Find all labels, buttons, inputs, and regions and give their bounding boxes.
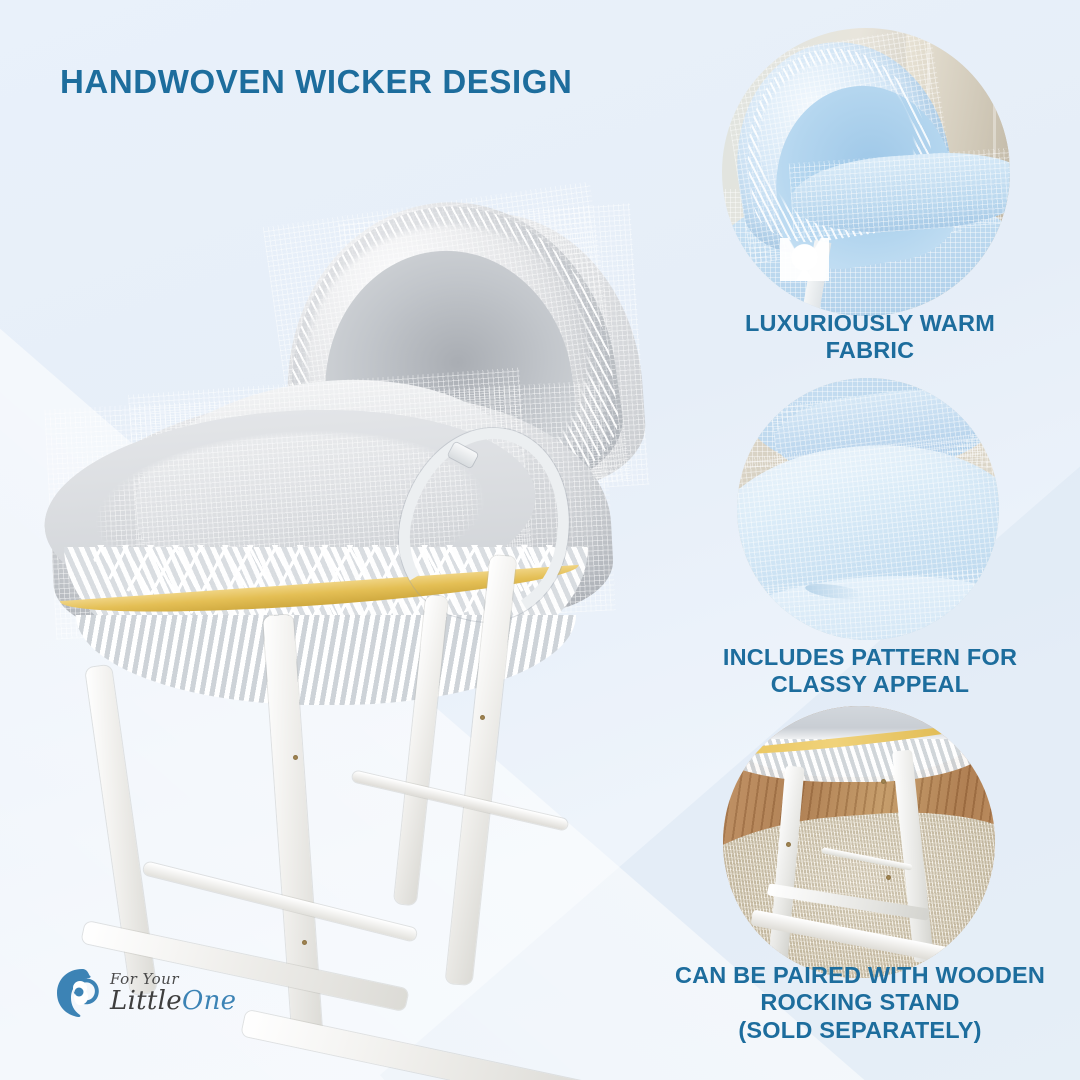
caption-line: CLASSY APPEAL <box>650 671 1080 698</box>
white-ribbon-bow <box>780 238 829 281</box>
feature-image-warm-fabric <box>722 28 1010 316</box>
stand-screw <box>293 755 298 760</box>
feature-image-classy-pattern <box>737 378 999 640</box>
brand-logo[interactable]: For Your LittleOne <box>52 966 242 1040</box>
caption-line: ROCKING STAND <box>630 989 1080 1016</box>
page-title: HANDWOVEN WICKER DESIGN <box>60 62 680 102</box>
hero-product-image <box>50 195 650 1005</box>
mother-and-baby-icon <box>52 966 106 1024</box>
logo-word-one: One <box>182 986 236 1016</box>
caption-line: FABRIC <box>660 337 1080 364</box>
caption-line: LUXURIOUSLY WARM <box>660 310 1080 337</box>
caption-rocking-stand: CAN BE PAIRED WITH WOODEN ROCKING STAND … <box>630 962 1080 1044</box>
caption-line: (SOLD SEPARATELY) <box>630 1017 1080 1044</box>
stand-screw <box>480 715 485 720</box>
stand-cross-dowel <box>352 770 569 830</box>
logo-line-two: LittleOne <box>110 986 236 1016</box>
stand-screw <box>886 875 891 880</box>
product-feature-graphic: HANDWOVEN WICKER DESIGN <box>0 0 1080 1080</box>
stand-screw <box>786 842 791 847</box>
stand-screw <box>302 940 307 945</box>
logo-word-little: Little <box>110 986 182 1016</box>
caption-classy-pattern: INCLUDES PATTERN FOR CLASSY APPEAL <box>650 644 1080 699</box>
caption-line: INCLUDES PATTERN FOR <box>650 644 1080 671</box>
feature-image-rocking-stand <box>723 706 995 978</box>
caption-warm-fabric: LUXURIOUSLY WARM FABRIC <box>660 310 1080 365</box>
caption-line: CAN BE PAIRED WITH WOODEN <box>630 962 1080 989</box>
